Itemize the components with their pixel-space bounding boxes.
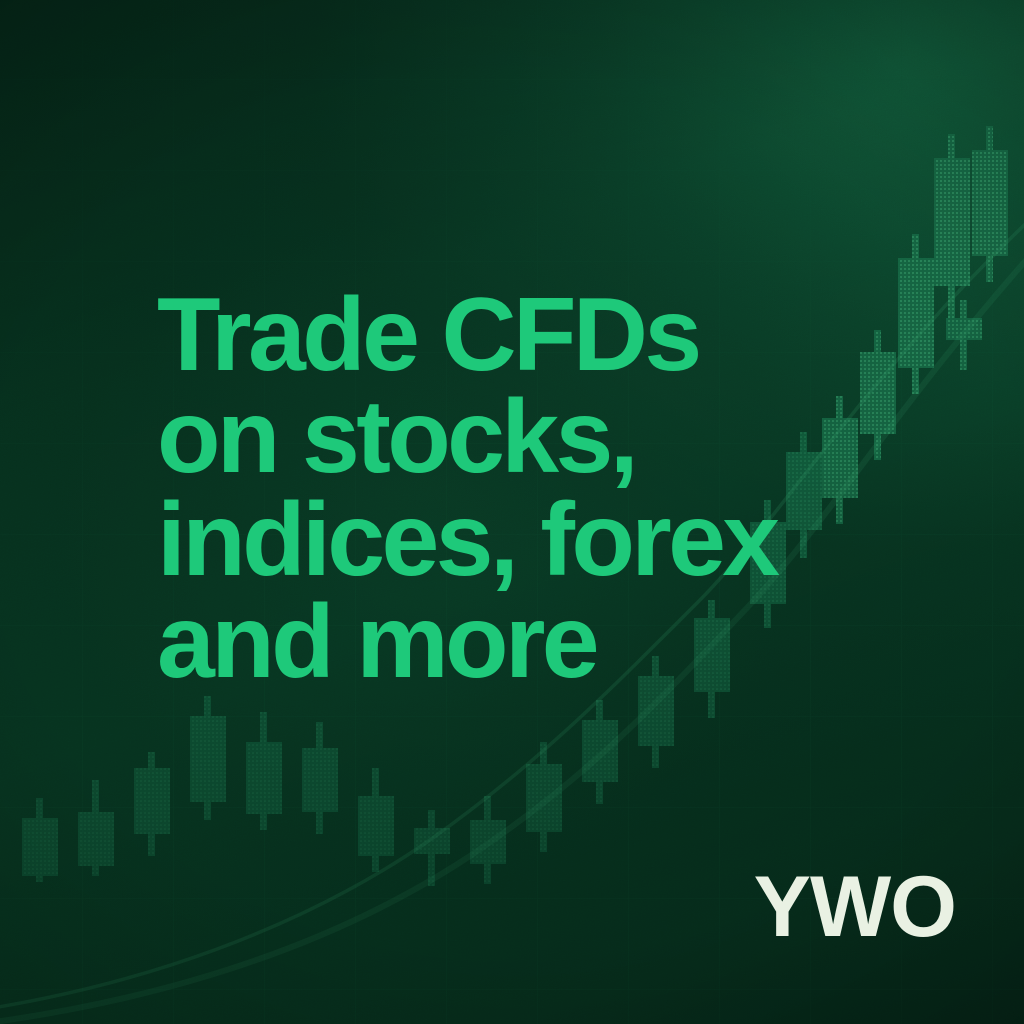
headline-line-1: Trade CFDs <box>157 284 957 386</box>
headline-line-3: indices, forex <box>157 489 957 591</box>
promo-poster: Trade CFDs on stocks, indices, forex and… <box>0 0 1024 1024</box>
brand-logo: YWO <box>754 864 956 950</box>
headline-line-2: on stocks, <box>157 386 957 488</box>
headline-line-4: and more <box>157 591 957 693</box>
headline: Trade CFDs on stocks, indices, forex and… <box>157 284 957 694</box>
